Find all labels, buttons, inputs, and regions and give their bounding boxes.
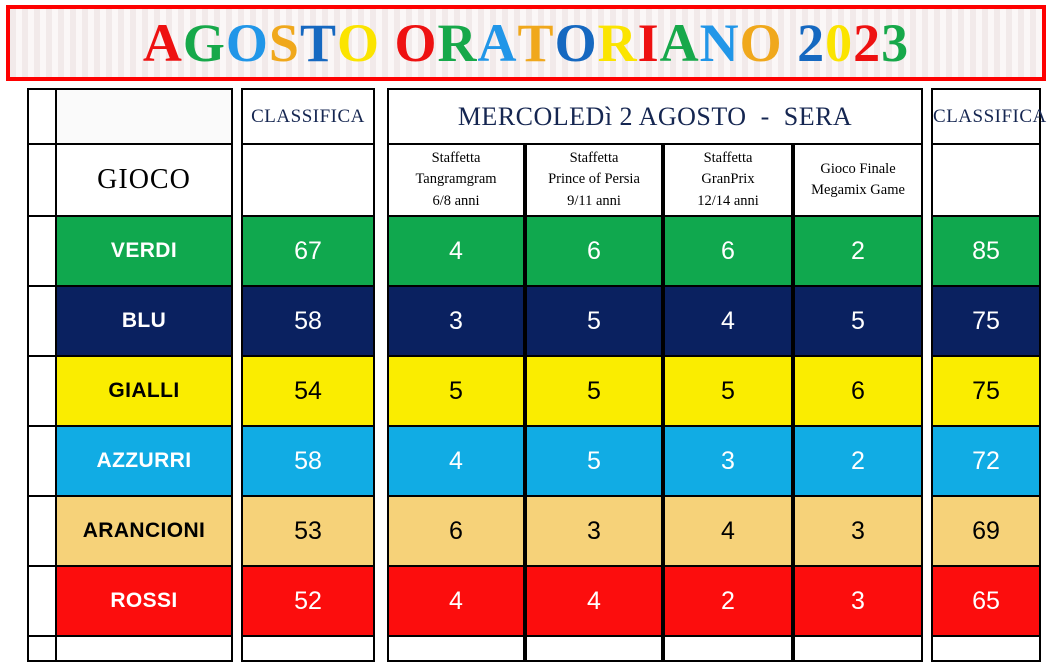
title-letter-5: O: [337, 15, 380, 71]
title-letter-18: 2: [797, 15, 825, 71]
classifica-before-cell-azzurri: 58: [242, 426, 374, 496]
gutter-r4-b: [374, 496, 388, 566]
classifica-before-cell-verdi: 67: [242, 216, 374, 286]
row-marker-cell-2: [28, 144, 56, 216]
table-row: AZZURRI58453272: [6, 426, 1046, 496]
header-game-1-line1: Staffetta: [389, 148, 523, 169]
score-cell-azzurri-game3: 3: [664, 426, 792, 496]
title-letter-21: 3: [881, 15, 909, 71]
right-margin-cell-r5: [1040, 566, 1046, 636]
left-margin-cell-footer: [6, 636, 28, 661]
gutter-r3-b: [374, 426, 388, 496]
title-letter-15: N: [700, 15, 740, 71]
title-letter-3: S: [269, 15, 300, 71]
right-margin-cell-r0: [1040, 216, 1046, 286]
title-letter-14: A: [660, 15, 700, 71]
title-banner-text: AGOSTO ORATORIANO 2023: [143, 15, 909, 71]
team-name-cell-blu: BLU: [56, 286, 232, 356]
header-game-1: Staffetta Tangramgram 6/8 anni: [388, 144, 524, 216]
scoreboard-table: CLASSIFICA MERCOLEDì 2 AGOSTO - SERA CLA…: [6, 88, 1046, 662]
right-margin-cell-r4: [1040, 496, 1046, 566]
gutter-f1: [232, 636, 242, 661]
gutter-r2-a: [232, 356, 242, 426]
header-classifica-right: CLASSIFICA: [932, 89, 1040, 144]
title-letter-11: O: [555, 15, 598, 71]
title-letter-10: T: [518, 15, 555, 71]
title-letter-6: [380, 15, 395, 71]
left-margin-cell-r0: [6, 216, 28, 286]
classifica-before-cell-rossi: 52: [242, 566, 374, 636]
left-margin-cell-r3: [6, 426, 28, 496]
title-banner: AGOSTO ORATORIANO 2023: [6, 5, 1046, 81]
title-letter-12: R: [598, 15, 638, 71]
header-game-1-line3: 6/8 anni: [389, 191, 523, 212]
score-cell-verdi-game1: 4: [388, 216, 524, 286]
row-marker-cell-r4: [28, 496, 56, 566]
gutter-r5-a: [232, 566, 242, 636]
title-letter-0: A: [143, 15, 183, 71]
title-letter-4: T: [300, 15, 337, 71]
gutter-r0-b: [374, 216, 388, 286]
classifica-before-cell-gialli: 54: [242, 356, 374, 426]
header-classifica-left-sub: [242, 144, 374, 216]
gutter-r2-b: [374, 356, 388, 426]
gutter-f6: [922, 636, 932, 661]
left-margin-cell-r2: [6, 356, 28, 426]
classifica-after-cell-azzurri: 72: [932, 426, 1040, 496]
score-cell-gialli-game2: 5: [526, 356, 662, 426]
left-margin-cell-r1: [6, 286, 28, 356]
gutter-r0-a: [232, 216, 242, 286]
score-cell-verdi-game2: 6: [526, 216, 662, 286]
gutter-1: [232, 89, 242, 144]
header-game-2-line2: Prince of Persia: [527, 169, 661, 190]
right-margin-cell-2: [1040, 144, 1046, 216]
gutter-3: [922, 89, 932, 144]
right-margin-cell-r3: [1040, 426, 1046, 496]
gutter-r1-b: [374, 286, 388, 356]
footer-game-4-cell: [794, 636, 922, 661]
score-cell-verdi-game4: 2: [794, 216, 922, 286]
gutter-r1-a: [232, 286, 242, 356]
team-name-cell-verdi: VERDI: [56, 216, 232, 286]
left-margin-cell-r4: [6, 496, 28, 566]
gutter-2: [374, 89, 388, 144]
title-letter-1: G: [183, 15, 226, 71]
header-game-3: Staffetta GranPrix 12/14 anni: [664, 144, 792, 216]
gutter-9: [922, 144, 932, 216]
row-marker-cell-footer: [28, 636, 56, 661]
header-game-2-line3: 9/11 anni: [527, 191, 661, 212]
score-cell-rossi-game3: 2: [664, 566, 792, 636]
classifica-after-cell-verdi: 85: [932, 216, 1040, 286]
score-cell-rossi-game4: 3: [794, 566, 922, 636]
row-marker-cell: [28, 89, 56, 144]
table-row: VERDI67466285: [6, 216, 1046, 286]
right-margin-cell-r2: [1040, 356, 1046, 426]
table-row: BLU58354575: [6, 286, 1046, 356]
header-game-4-line2: Megamix Game: [795, 180, 921, 201]
classifica-before-cell-blu: 58: [242, 286, 374, 356]
gutter-r2-c: [922, 356, 932, 426]
title-letter-17: [783, 15, 798, 71]
left-margin-cell: [6, 89, 28, 144]
classifica-after-cell-gialli: 75: [932, 356, 1040, 426]
title-letter-20: 2: [853, 15, 881, 71]
header-game-3-line1: Staffetta: [665, 148, 791, 169]
gutter-5: [374, 144, 388, 216]
score-cell-gialli-game3: 5: [664, 356, 792, 426]
score-cell-gialli-game4: 6: [794, 356, 922, 426]
left-margin-cell-2: [6, 144, 28, 216]
left-margin-cell-r5: [6, 566, 28, 636]
score-cell-rossi-game2: 4: [526, 566, 662, 636]
header-game-2-line1: Staffetta: [527, 148, 661, 169]
gutter-r3-a: [232, 426, 242, 496]
header-game-4: Gioco Finale Megamix Game: [794, 144, 922, 216]
gutter-4: [232, 144, 242, 216]
score-cell-blu-game4: 5: [794, 286, 922, 356]
footer-game-2-cell: [526, 636, 662, 661]
title-letter-8: R: [438, 15, 478, 71]
header-session-title: MERCOLEDì 2 AGOSTO - SERA: [388, 89, 922, 144]
footer-classifica-right-cell: [932, 636, 1040, 661]
row-marker-cell-r3: [28, 426, 56, 496]
team-name-cell-gialli: GIALLI: [56, 356, 232, 426]
row-marker-cell-r5: [28, 566, 56, 636]
score-cell-blu-game3: 4: [664, 286, 792, 356]
classifica-after-cell-arancioni: 69: [932, 496, 1040, 566]
scoreboard-page: AGOSTO ORATORIANO 2023: [0, 0, 1052, 652]
score-cell-arancioni-game4: 3: [794, 496, 922, 566]
row-marker-cell-r1: [28, 286, 56, 356]
classifica-after-cell-blu: 75: [932, 286, 1040, 356]
header-game-4-line1: Gioco Finale: [795, 159, 921, 180]
gutter-r3-c: [922, 426, 932, 496]
header-row-titles: CLASSIFICA MERCOLEDì 2 AGOSTO - SERA CLA…: [6, 89, 1046, 144]
score-cell-azzurri-game1: 4: [388, 426, 524, 496]
header-blank-team-cell: [56, 89, 232, 144]
score-cell-arancioni-game2: 3: [526, 496, 662, 566]
score-cell-blu-game1: 3: [388, 286, 524, 356]
title-letter-19: 0: [825, 15, 853, 71]
title-letter-9: A: [478, 15, 518, 71]
score-cell-rossi-game1: 4: [388, 566, 524, 636]
score-cell-arancioni-game3: 4: [664, 496, 792, 566]
header-game-2: Staffetta Prince of Persia 9/11 anni: [526, 144, 662, 216]
row-marker-cell-r2: [28, 356, 56, 426]
footer-game-1-cell: [388, 636, 524, 661]
classifica-after-cell-rossi: 65: [932, 566, 1040, 636]
footer-classifica-left-cell: [242, 636, 374, 661]
right-margin-cell-footer: [1040, 636, 1046, 661]
right-margin-cell-r1: [1040, 286, 1046, 356]
header-row-games: GIOCO Staffetta Tangramgram 6/8 anni Sta…: [6, 144, 1046, 216]
gutter-r4-a: [232, 496, 242, 566]
team-name-cell-azzurri: AZZURRI: [56, 426, 232, 496]
footer-empty-row: [6, 636, 1046, 661]
score-cell-arancioni-game1: 6: [388, 496, 524, 566]
title-letter-13: I: [638, 15, 660, 71]
score-cell-azzurri-game4: 2: [794, 426, 922, 496]
team-name-cell-arancioni: ARANCIONI: [56, 496, 232, 566]
row-marker-cell-r0: [28, 216, 56, 286]
team-name-cell-rossi: ROSSI: [56, 566, 232, 636]
score-cell-azzurri-game2: 5: [526, 426, 662, 496]
gutter-r1-c: [922, 286, 932, 356]
score-cell-verdi-game3: 6: [664, 216, 792, 286]
footer-game-3-cell: [664, 636, 792, 661]
gutter-f2: [374, 636, 388, 661]
gutter-r4-c: [922, 496, 932, 566]
score-cell-gialli-game1: 5: [388, 356, 524, 426]
table-row: ARANCIONI53634369: [6, 496, 1046, 566]
header-classifica-right-sub: [932, 144, 1040, 216]
title-letter-16: O: [740, 15, 783, 71]
header-game-1-line2: Tangramgram: [389, 169, 523, 190]
header-gioco-label: GIOCO: [56, 144, 232, 216]
header-classifica-left: CLASSIFICA: [242, 89, 374, 144]
gutter-r5-b: [374, 566, 388, 636]
gutter-r5-c: [922, 566, 932, 636]
title-letter-2: O: [226, 15, 269, 71]
score-cell-blu-game2: 5: [526, 286, 662, 356]
table-row: GIALLI54555675: [6, 356, 1046, 426]
title-letter-7: O: [395, 15, 438, 71]
header-game-3-line3: 12/14 anni: [665, 191, 791, 212]
table-row: ROSSI52442365: [6, 566, 1046, 636]
gutter-r0-c: [922, 216, 932, 286]
classifica-before-cell-arancioni: 53: [242, 496, 374, 566]
header-game-3-line2: GranPrix: [665, 169, 791, 190]
footer-team-cell: [56, 636, 232, 661]
